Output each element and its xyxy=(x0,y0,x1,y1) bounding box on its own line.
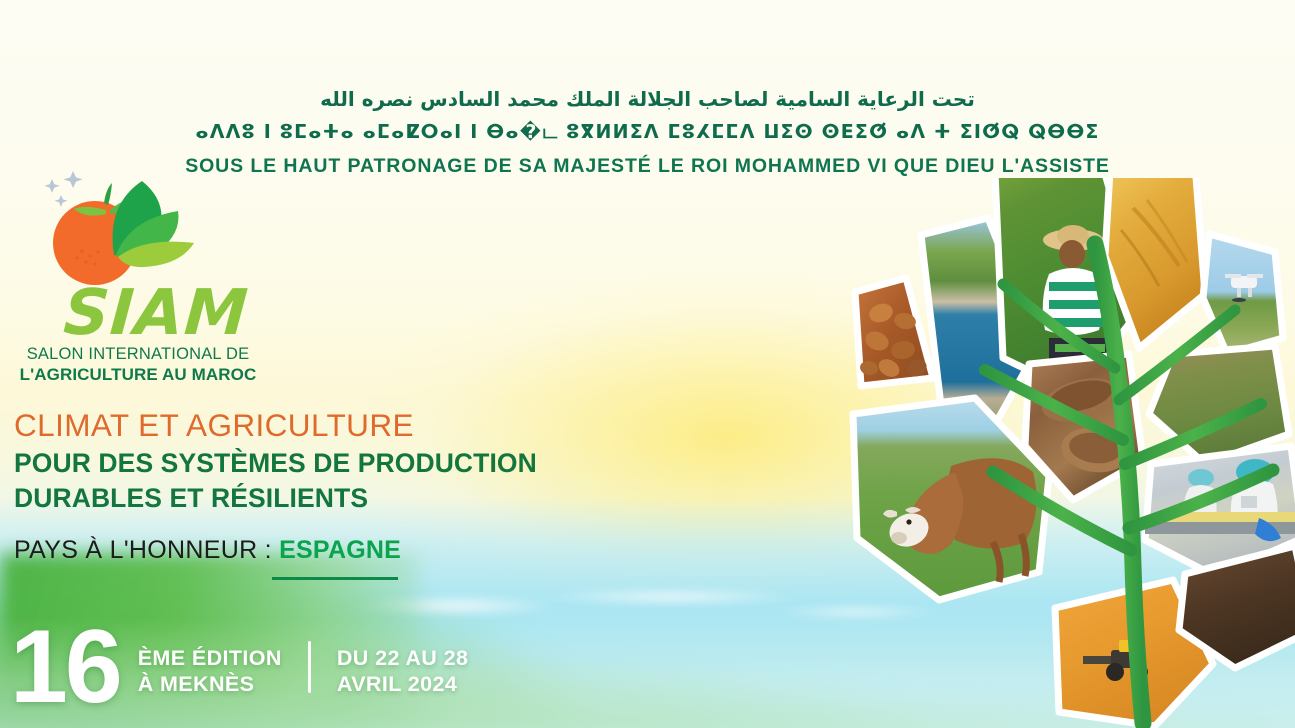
orange-and-leaves-icon xyxy=(32,163,252,293)
guest-country-label: PAYS À L'HONNEUR : xyxy=(14,536,272,564)
siam-wordmark: SIAM xyxy=(62,281,251,344)
patronage-tifinagh: ⴰⴷⴷⵓ ⵏ ⵓⵎⴰⵜⴰ ⴰⵎⴰⵇⵔⴰⵏ ⵏ ⴱⴰ�ட ⵓⴳⵍⵍⵉⴷ ⵎⵓⵃⵎⵎ… xyxy=(0,121,1295,146)
theme-subtitle-1: POUR DES SYSTÈMES DE PRODUCTION xyxy=(14,448,634,478)
guest-country-name: ESPAGNE xyxy=(279,536,401,564)
edition-divider xyxy=(308,641,311,693)
logo-subtitle-line2: L'AGRICULTURE AU MAROC xyxy=(18,365,258,385)
edition-dates: DU 22 AU 28 AVRIL 2024 xyxy=(337,637,468,697)
edition-ordinal-line2: À MEKNÈS xyxy=(138,671,282,697)
siam-logo: SIAM SALON INTERNATIONAL DE L'AGRICULTUR… xyxy=(14,163,264,393)
edition-number: 16 xyxy=(10,625,120,710)
logo-subtitle-line1: SALON INTERNATIONAL DE xyxy=(18,345,258,364)
theme-subtitle-2: DURABLES ET RÉSILIENTS xyxy=(14,483,634,513)
edition-ordinal: ÈME ÉDITION À MEKNÈS xyxy=(138,637,282,697)
guest-country-line: PAYS À L'HONNEUR : ESPAGNE xyxy=(14,536,634,565)
edition-bar: 16 ÈME ÉDITION À MEKNÈS DU 22 AU 28 AVRI… xyxy=(10,625,468,710)
headline-block: CLIMAT ET AGRICULTURE POUR DES SYSTÈMES … xyxy=(14,408,634,580)
leaf-collage-svg xyxy=(843,178,1295,728)
edition-dates-line2: AVRIL 2024 xyxy=(337,671,468,697)
sparkle-icon xyxy=(44,171,82,207)
leaf-photo-collage xyxy=(843,178,1295,728)
edition-dates-line1: DU 22 AU 28 xyxy=(337,645,468,671)
edition-ordinal-line1: ÈME ÉDITION xyxy=(138,645,282,671)
guest-country-underline xyxy=(272,577,398,580)
collage-panel-agri-drone xyxy=(1203,234,1283,354)
theme-title: CLIMAT ET AGRICULTURE xyxy=(14,408,634,443)
patronage-arabic: تحت الرعاية السامية لصاحب الجلالة الملك … xyxy=(0,86,1295,113)
siam-poster: تحت الرعاية السامية لصاحب الجلالة الملك … xyxy=(0,0,1295,728)
stem-icon xyxy=(104,183,112,205)
siam-logo-mark: SIAM xyxy=(32,163,252,293)
